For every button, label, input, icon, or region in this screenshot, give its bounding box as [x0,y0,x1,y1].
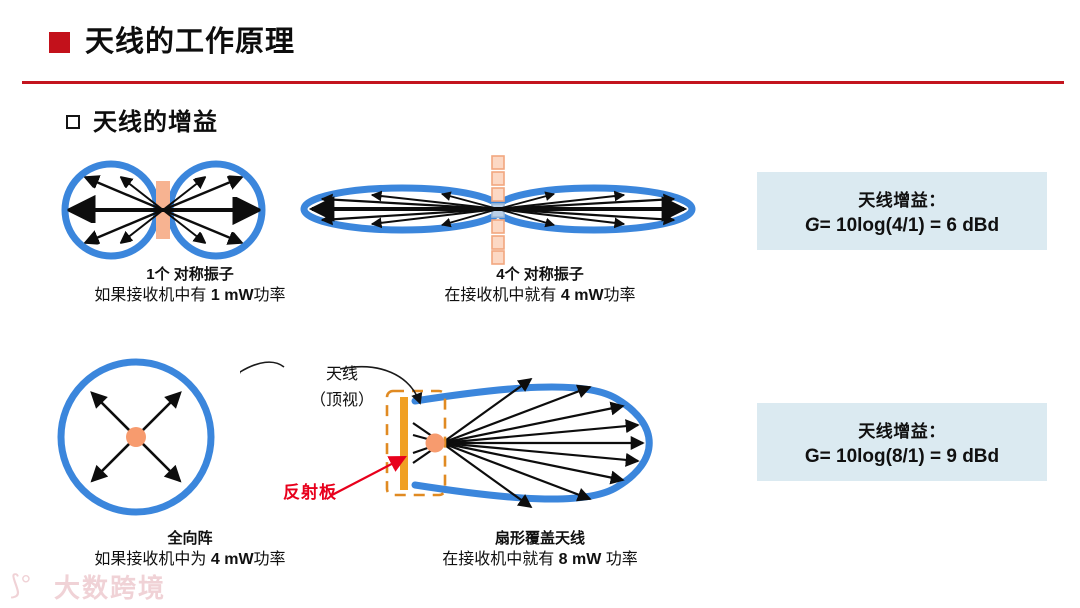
figure-eight-pattern-svg [44,158,284,263]
caption-single-dipole: 1个 对称振子 如果接收机中有 1 mW功率 [40,264,340,308]
gain-formula: G= 10log(4/1) = 6 dBd [805,215,999,237]
diagram-omnidirectional-circle [50,355,230,520]
caption-prefix: 在接收机中就有 [442,551,558,568]
watermark-logo-icon: ⟆° [10,570,31,601]
slide-header: 天线的工作原理 [0,0,1080,84]
caption-prefix: 在接收机中就有 [444,287,560,304]
caption-title: 4个 对称振子 [370,264,710,285]
diagram-four-dipole-array [298,150,698,268]
omni-pattern-svg [50,355,230,520]
subtitle-bullet-square-outline [66,115,80,129]
watermark-text: 大数跨境 [54,568,166,605]
caption-title: 1个 对称振子 [40,264,340,285]
gain-info-box-sector-antenna: 天线增益： G= 10log(8/1) = 9 dBd [757,403,1047,481]
diagram-single-dipole-figure-eight [44,158,284,263]
header-divider-rule [22,81,1064,84]
gain-formula: G= 10log(8/1) = 9 dBd [805,446,999,468]
antenna-source-dot [126,427,146,447]
title-bullet-square [49,32,70,53]
gain-label: 天线增益： [858,186,946,211]
annotation-line-2: （顶视） [277,388,407,414]
reflector-leader-arrow [332,457,405,495]
annotation-antenna-top-view: 天线 （顶视） [277,362,407,413]
gain-info-box-dipole-array: 天线增益： G= 10log(4/1) = 6 dBd [757,172,1047,250]
caption-suffix: 功率 [254,287,286,304]
caption-suffix: 功率 [601,551,637,568]
caption-power-value: 4 mW [561,287,604,304]
caption-title: 扇形覆盖天线 [370,528,710,549]
watermark: ⟆° 大数跨境 [8,566,248,606]
caption-prefix: 如果接收机中有 [94,287,210,304]
annotation-line-1: 天线 [277,362,407,388]
gain-label: 天线增益： [858,417,946,442]
page-title: 天线的工作原理 [85,18,295,60]
caption-power-value: 1 mW [211,287,254,304]
caption-suffix: 功率 [254,551,286,568]
section-subtitle: 天线的增益 [93,102,218,137]
section-subtitle-row: 天线的增益 [66,102,218,137]
annotation-reflector-label: 反射板 [283,478,337,503]
narrow-lobe-pattern-svg [298,150,698,268]
caption-subtext: 在接收机中就有 8 mW 功率 [370,549,710,572]
caption-title: 全向阵 [40,528,340,549]
caption-sector-antenna: 扇形覆盖天线 在接收机中就有 8 mW 功率 [370,528,710,572]
caption-four-dipole-array: 4个 对称振子 在接收机中就有 4 mW功率 [370,264,710,308]
caption-suffix: 功率 [604,287,636,304]
caption-subtext: 如果接收机中有 1 mW功率 [40,285,340,308]
caption-subtext: 在接收机中就有 4 mW功率 [370,285,710,308]
caption-power-value: 8 mW [559,551,602,568]
